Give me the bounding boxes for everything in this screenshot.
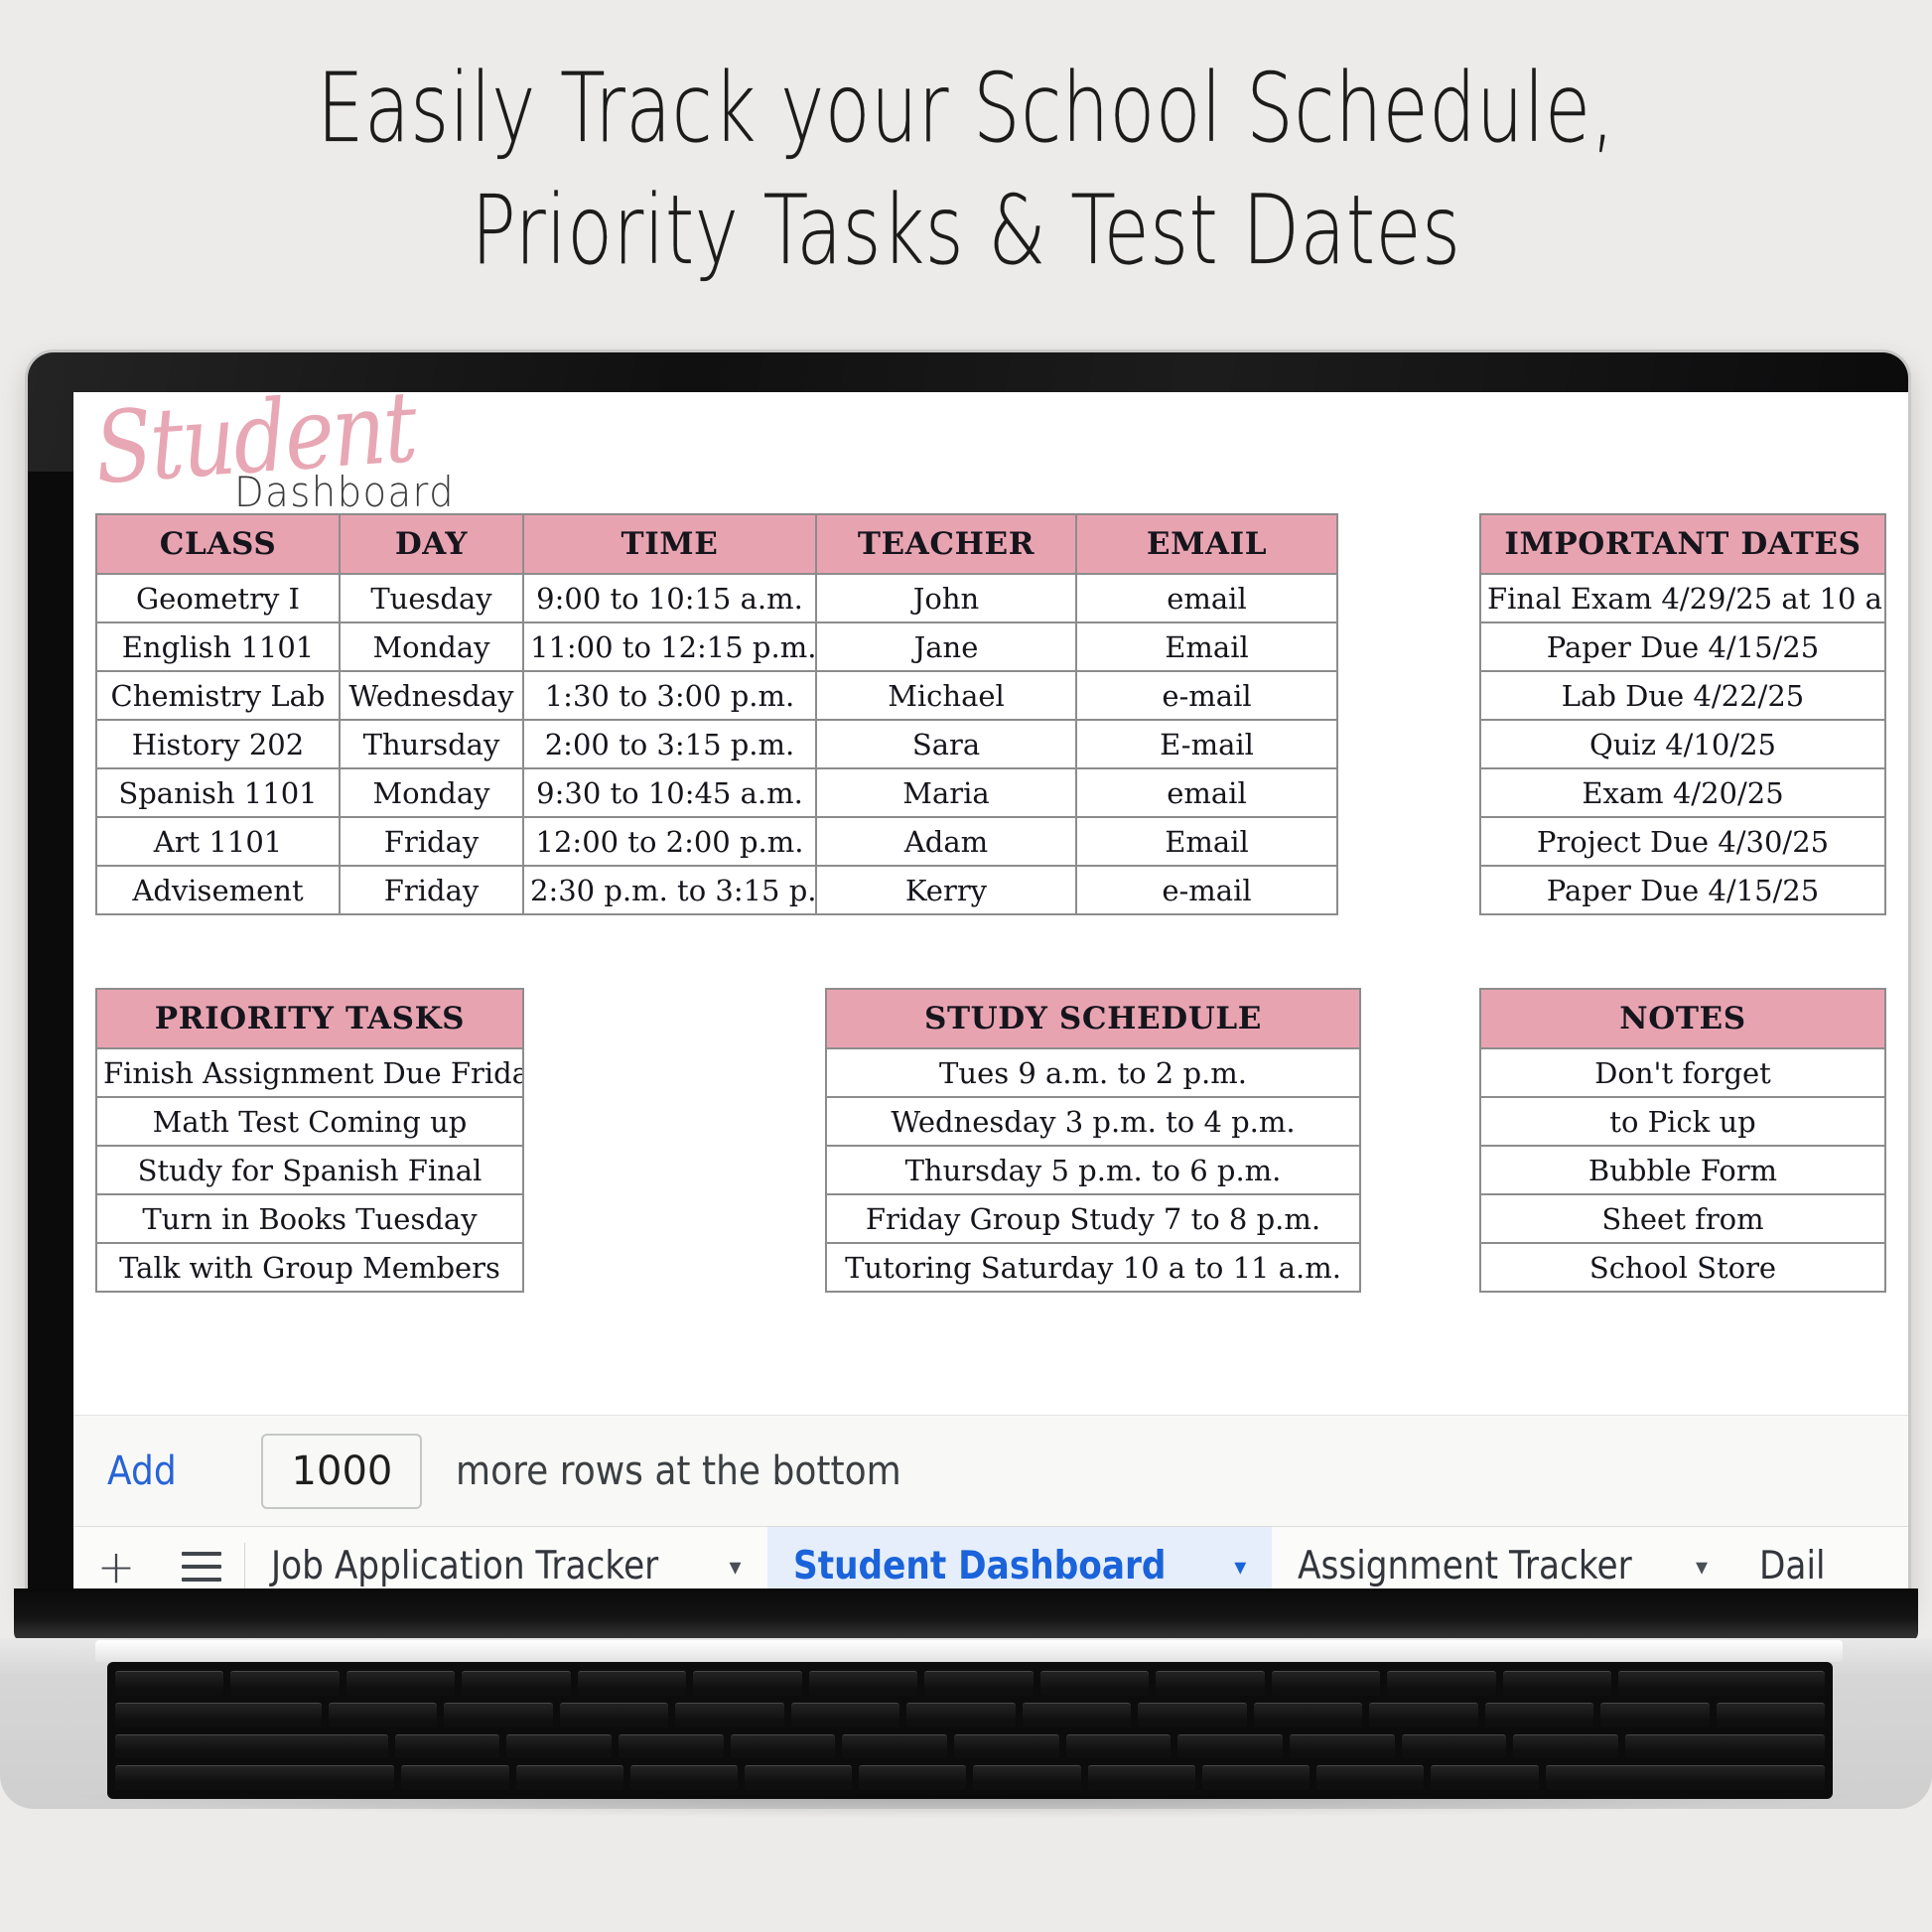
table-row: Spanish 1101 Monday 9:30 to 10:45 a.m. M… [96, 768, 1337, 817]
column-header-priority-tasks[interactable]: PRIORITY TASKS [96, 989, 523, 1048]
cell-email[interactable]: email [1076, 768, 1337, 817]
cell-important-date[interactable]: Final Exam 4/29/25 at 10 a.m. [1480, 574, 1885, 622]
hamburger-icon [182, 1552, 221, 1582]
logo-subtitle-text: Dashboard [234, 468, 455, 516]
table-row: English 1101 Monday 11:00 to 12:15 p.m. … [96, 622, 1337, 671]
cell-important-date[interactable]: Quiz 4/10/25 [1480, 720, 1885, 768]
table-row: History 202 Thursday 2:00 to 3:15 p.m. S… [96, 720, 1337, 768]
cell-time[interactable]: 11:00 to 12:15 p.m. [523, 622, 816, 671]
cell-class[interactable]: Art 1101 [96, 817, 340, 866]
table-row: Geometry I Tuesday 9:00 to 10:15 a.m. Jo… [96, 574, 1337, 622]
cell-note[interactable]: Sheet from [1480, 1194, 1885, 1243]
column-header-time[interactable]: TIME [523, 514, 816, 574]
student-dashboard-logo: Student Dashboard [95, 406, 562, 515]
cell-important-date[interactable]: Lab Due 4/22/25 [1480, 671, 1885, 720]
cell-class[interactable]: Geometry I [96, 574, 340, 622]
cell-email[interactable]: email [1076, 574, 1337, 622]
headline-line-2: Priority Tasks & Test Dates [212, 170, 1720, 292]
cell-email[interactable]: Email [1076, 622, 1337, 671]
table-row: Art 1101 Friday 12:00 to 2:00 p.m. Adam … [96, 817, 1337, 866]
table-header-row: NOTES [1480, 989, 1885, 1048]
sheet-tab-label: Assignment Tracker [1298, 1544, 1632, 1588]
cell-study-slot[interactable]: Friday Group Study 7 to 8 p.m. [826, 1194, 1360, 1243]
cell-class[interactable]: Advisement [96, 866, 340, 914]
table-row: Project Due 4/30/25 [1480, 817, 1885, 866]
cell-study-slot[interactable]: Wednesday 3 p.m. to 4 p.m. [826, 1097, 1360, 1146]
table-row: Talk with Group Members [96, 1243, 523, 1292]
column-header-study-schedule[interactable]: STUDY SCHEDULE [826, 989, 1360, 1048]
cell-email[interactable]: E-mail [1076, 720, 1337, 768]
cell-priority-task[interactable]: Turn in Books Tuesday [96, 1194, 523, 1243]
cell-teacher[interactable]: Michael [816, 671, 1076, 720]
cell-time[interactable]: 9:30 to 10:45 a.m. [523, 768, 816, 817]
cell-time[interactable]: 12:00 to 2:00 p.m. [523, 817, 816, 866]
cell-important-date[interactable]: Project Due 4/30/25 [1480, 817, 1885, 866]
cell-teacher[interactable]: John [816, 574, 1076, 622]
cell-priority-task[interactable]: Finish Assignment Due Friday [96, 1048, 523, 1097]
cell-day[interactable]: Wednesday [340, 671, 523, 720]
spreadsheet-app: Student Dashboard CLASS DAY TIME [73, 392, 1908, 1605]
cell-teacher[interactable]: Jane [816, 622, 1076, 671]
cell-note[interactable]: School Store [1480, 1243, 1885, 1292]
table-row: Advisement Friday 2:30 p.m. to 3:15 p.m.… [96, 866, 1337, 914]
sheet-tab-label: Dail [1759, 1544, 1826, 1588]
add-rows-bar: Add 1000 more rows at the bottom [73, 1415, 1908, 1526]
sheet-tab-label: Job Application Tracker [271, 1544, 658, 1588]
column-header-email[interactable]: EMAIL [1076, 514, 1337, 574]
desk-shadow [60, 1795, 1872, 1819]
cell-priority-task[interactable]: Study for Spanish Final [96, 1146, 523, 1194]
cell-important-date[interactable]: Paper Due 4/15/25 [1480, 866, 1885, 914]
add-rows-suffix-label: more rows at the bottom [456, 1449, 901, 1494]
table-row: Don't forget [1480, 1048, 1885, 1097]
cell-note[interactable]: Don't forget [1480, 1048, 1885, 1097]
sheet-canvas: Student Dashboard CLASS DAY TIME [73, 392, 1908, 1415]
add-rows-button[interactable]: Add [107, 1449, 177, 1494]
cell-day[interactable]: Tuesday [340, 574, 523, 622]
chevron-down-icon[interactable]: ▾ [1234, 1555, 1246, 1579]
cell-study-slot[interactable]: Thursday 5 p.m. to 6 p.m. [826, 1146, 1360, 1194]
table-row: Final Exam 4/29/25 at 10 a.m. [1480, 574, 1885, 622]
notes-block: NOTES Don't forget to Pick up Bubble For… [1479, 988, 1886, 1293]
cell-class[interactable]: English 1101 [96, 622, 340, 671]
priority-tasks-block: PRIORITY TASKS Finish Assignment Due Fri… [95, 988, 524, 1293]
cell-class[interactable]: Chemistry Lab [96, 671, 340, 720]
important-dates-table: IMPORTANT DATES Final Exam 4/29/25 at 10… [1479, 513, 1886, 915]
cell-note[interactable]: to Pick up [1480, 1097, 1885, 1146]
table-row: Bubble Form [1480, 1146, 1885, 1194]
cell-time[interactable]: 9:00 to 10:15 a.m. [523, 574, 816, 622]
headline-line-1: Easily Track your School Schedule, [212, 48, 1720, 170]
study-schedule-block: STUDY SCHEDULE Tues 9 a.m. to 2 p.m. Wed… [825, 988, 1361, 1293]
cell-priority-task[interactable]: Math Test Coming up [96, 1097, 523, 1146]
cell-important-date[interactable]: Exam 4/20/25 [1480, 768, 1885, 817]
table-header-row: IMPORTANT DATES [1480, 514, 1885, 574]
laptop-hinge [14, 1588, 1918, 1642]
cell-teacher[interactable]: Kerry [816, 866, 1076, 914]
table-row: Quiz 4/10/25 [1480, 720, 1885, 768]
cell-teacher[interactable]: Adam [816, 817, 1076, 866]
table-row: Study for Spanish Final [96, 1146, 523, 1194]
column-header-class[interactable]: CLASS [96, 514, 340, 574]
notes-table: NOTES Don't forget to Pick up Bubble For… [1479, 988, 1886, 1293]
cell-day[interactable]: Monday [340, 768, 523, 817]
table-row: Turn in Books Tuesday [96, 1194, 523, 1243]
cell-time[interactable]: 2:30 p.m. to 3:15 p.m. [523, 866, 816, 914]
cell-study-slot[interactable]: Tutoring Saturday 10 a to 11 a.m. [826, 1243, 1360, 1292]
laptop-deck-lip [95, 1640, 1843, 1662]
table-row: Tues 9 a.m. to 2 p.m. [826, 1048, 1360, 1097]
cell-important-date[interactable]: Paper Due 4/15/25 [1480, 622, 1885, 671]
table-row: Paper Due 4/15/25 [1480, 866, 1885, 914]
table-row: Paper Due 4/15/25 [1480, 622, 1885, 671]
chevron-down-icon[interactable]: ▾ [730, 1555, 742, 1579]
table-row: to Pick up [1480, 1097, 1885, 1146]
promo-headline: Easily Track your School Schedule, Prior… [212, 48, 1720, 292]
cell-class[interactable]: Spanish 1101 [96, 768, 340, 817]
table-header-row: PRIORITY TASKS [96, 989, 523, 1048]
add-rows-count-input[interactable]: 1000 [261, 1434, 422, 1509]
chevron-down-icon[interactable]: ▾ [1696, 1555, 1708, 1579]
table-row: Sheet from [1480, 1194, 1885, 1243]
table-row: Exam 4/20/25 [1480, 768, 1885, 817]
laptop-mockup: Student Dashboard CLASS DAY TIME [28, 352, 1908, 1603]
class-schedule-table: CLASS DAY TIME TEACHER EMAIL Geometry I … [95, 513, 1338, 915]
sheet-tab-label: Student Dashboard [793, 1544, 1166, 1588]
table-header-row: STUDY SCHEDULE [826, 989, 1360, 1048]
table-row: Wednesday 3 p.m. to 4 p.m. [826, 1097, 1360, 1146]
table-row: Finish Assignment Due Friday [96, 1048, 523, 1097]
column-header-notes[interactable]: NOTES [1480, 989, 1885, 1048]
laptop-screen-bezel: Student Dashboard CLASS DAY TIME [28, 352, 1908, 1605]
cell-priority-task[interactable]: Talk with Group Members [96, 1243, 523, 1292]
cell-teacher[interactable]: Maria [816, 768, 1076, 817]
table-row: School Store [1480, 1243, 1885, 1292]
cell-email[interactable]: Email [1076, 817, 1337, 866]
cell-day[interactable]: Friday [340, 817, 523, 866]
table-row: Math Test Coming up [96, 1097, 523, 1146]
cell-note[interactable]: Bubble Form [1480, 1146, 1885, 1194]
cell-day[interactable]: Friday [340, 866, 523, 914]
study-schedule-table: STUDY SCHEDULE Tues 9 a.m. to 2 p.m. Wed… [825, 988, 1361, 1293]
cell-teacher[interactable]: Sara [816, 720, 1076, 768]
cell-email[interactable]: e-mail [1076, 866, 1337, 914]
keyboard-row-zxcv [115, 1765, 1825, 1790]
cell-day[interactable]: Thursday [340, 720, 523, 768]
table-header-row: CLASS DAY TIME TEACHER EMAIL [96, 514, 1337, 574]
cell-email[interactable]: e-mail [1076, 671, 1337, 720]
keyboard-row-asdf [115, 1734, 1825, 1759]
laptop-keyboard [107, 1662, 1833, 1799]
keyboard-row-numbers [115, 1671, 1825, 1696]
cell-time[interactable]: 2:00 to 3:15 p.m. [523, 720, 816, 768]
table-row: Tutoring Saturday 10 a to 11 a.m. [826, 1243, 1360, 1292]
important-dates-block: IMPORTANT DATES Final Exam 4/29/25 at 10… [1479, 513, 1886, 915]
cell-time[interactable]: 1:30 to 3:00 p.m. [523, 671, 816, 720]
class-schedule-block: CLASS DAY TIME TEACHER EMAIL Geometry I … [95, 513, 1338, 915]
keyboard-row-qwerty [115, 1703, 1825, 1727]
priority-tasks-table: PRIORITY TASKS Finish Assignment Due Fri… [95, 988, 524, 1293]
cell-study-slot[interactable]: Tues 9 a.m. to 2 p.m. [826, 1048, 1360, 1097]
column-header-day[interactable]: DAY [340, 514, 523, 574]
column-header-important-dates[interactable]: IMPORTANT DATES [1480, 514, 1885, 574]
table-row: Lab Due 4/22/25 [1480, 671, 1885, 720]
table-row: Chemistry Lab Wednesday 1:30 to 3:00 p.m… [96, 671, 1337, 720]
cell-day[interactable]: Monday [340, 622, 523, 671]
table-row: Friday Group Study 7 to 8 p.m. [826, 1194, 1360, 1243]
table-row: Thursday 5 p.m. to 6 p.m. [826, 1146, 1360, 1194]
column-header-teacher[interactable]: TEACHER [816, 514, 1076, 574]
cell-class[interactable]: History 202 [96, 720, 340, 768]
